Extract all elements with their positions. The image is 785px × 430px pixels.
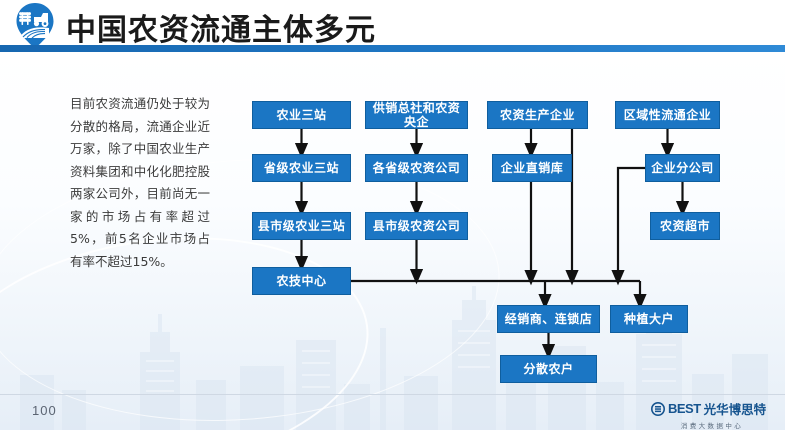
flow-node[interactable]: 供销总社和农资央企 <box>365 101 468 129</box>
brand-subtitle: 消费大数据中心 <box>651 420 773 430</box>
brand-name: 光华博思特 <box>704 399 767 418</box>
flow-diagram: 农业三站 供销总社和农资央企 农资生产企业 区域性流通企业 省级农业三站 各省级… <box>0 0 785 430</box>
flow-node[interactable]: 农业三站 <box>252 101 351 129</box>
brand-mark: BEST <box>668 401 701 416</box>
flow-node[interactable]: 经销商、连锁店 <box>497 305 600 333</box>
footer-divider <box>0 394 785 395</box>
page-number: 100 <box>32 403 57 418</box>
flow-node[interactable]: 各省级农资公司 <box>365 154 468 182</box>
flow-node[interactable]: 农资超市 <box>650 212 720 240</box>
flow-node[interactable]: 县市级农资公司 <box>365 212 468 240</box>
flow-node[interactable]: 分散农户 <box>500 355 597 383</box>
slide: 中国农资流通主体多元 目前农资流通仍处于较为分散的格局，流通企业近万家，除了中国… <box>0 0 785 430</box>
flow-node[interactable]: 省级农业三站 <box>252 154 351 182</box>
flow-node[interactable]: 农资生产企业 <box>487 101 588 129</box>
flow-node[interactable]: 企业直销库 <box>492 154 572 182</box>
flow-node[interactable]: 农技中心 <box>252 267 351 295</box>
best-circle-logo-icon <box>651 402 665 416</box>
flow-node[interactable]: 县市级农业三站 <box>252 212 351 240</box>
flow-node[interactable]: 种植大户 <box>610 305 688 333</box>
flow-node[interactable]: 区域性流通企业 <box>615 101 720 129</box>
brand-logo: BEST 光华博思特 消费大数据中心 <box>651 399 773 425</box>
flow-node[interactable]: 企业分公司 <box>645 154 720 182</box>
